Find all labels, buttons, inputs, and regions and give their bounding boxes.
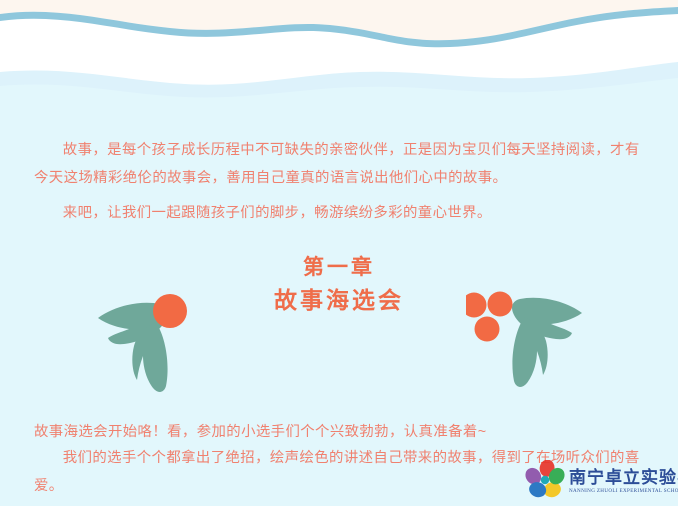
left-leaf-berry-sprig — [96, 282, 214, 399]
invite-paragraph: 来吧，让我们一起跟随孩子们的脚步，畅游缤纷多彩的童心世界。 — [34, 199, 646, 227]
school-name-cn: 南宁卓立实验学校 — [569, 469, 678, 486]
sprig-svg-left — [96, 282, 214, 394]
school-watermark: 南宁卓立实验学校 NANNING ZHUOLI EXPERIMENTAL SCH… — [524, 459, 674, 505]
berry — [153, 294, 187, 328]
school-logo-icon — [524, 460, 566, 505]
school-name-block: 南宁卓立实验学校 NANNING ZHUOLI EXPERIMENTAL SCH… — [569, 469, 678, 494]
wave-header-decoration — [0, 0, 678, 104]
event-paragraph: 故事海选会开始咯！看，参加的小选手们个个兴致勃勃，认真准备着~ — [34, 418, 646, 446]
intro-paragraph: 故事，是每个孩子成长历程中不可缺失的亲密伙伴，正是因为宝贝们每天坚持阅读，才有今… — [34, 136, 646, 192]
berry-2 — [466, 293, 487, 318]
wave-svg — [0, 0, 678, 104]
berry-1 — [488, 292, 513, 317]
berry-3 — [475, 317, 500, 342]
right-leaf-berry-sprig — [466, 277, 584, 394]
sprig-svg-right — [466, 277, 584, 389]
flower-petals-icon — [524, 460, 566, 500]
story-page: 故事，是每个孩子成长历程中不可缺失的亲密伙伴，正是因为宝贝们每天坚持阅读，才有今… — [0, 0, 678, 506]
school-name-en: NANNING ZHUOLI EXPERIMENTAL SCHOOL — [569, 489, 678, 494]
